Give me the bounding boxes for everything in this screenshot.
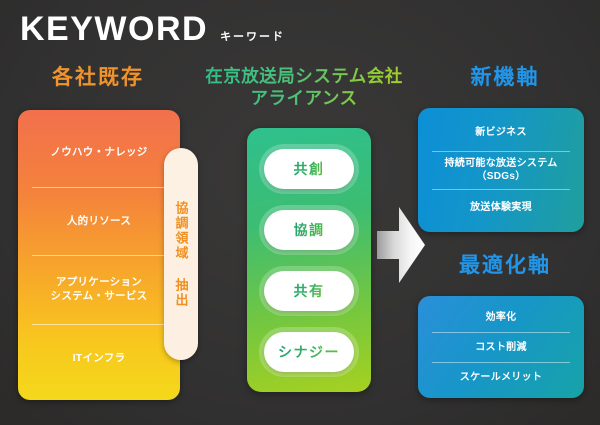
list-item: 協調 xyxy=(264,210,354,250)
existing-assets-column: ノウハウ・ナレッジ 人的リソース アプリケーションシステム・サービス ITインフ… xyxy=(18,110,180,400)
heading-new-axis: 新機軸 xyxy=(430,66,580,90)
list-item: 共創 xyxy=(264,149,354,189)
extraction-pill: 協調領域 抽出 xyxy=(164,148,198,360)
list-item: コスト削減 xyxy=(418,332,584,362)
alliance-value-label: 共創 xyxy=(294,159,325,179)
list-item: シナジー xyxy=(264,332,354,372)
alliance-value-label: 協調 xyxy=(294,220,325,240)
list-item: 新ビジネス xyxy=(418,114,584,151)
list-item: 効率化 xyxy=(418,302,584,332)
slide-canvas: KEYWORD キーワード 各社既存 在京放送局システム会社アライアンス 新機軸… xyxy=(0,0,600,425)
keyword-header: KEYWORD キーワード xyxy=(20,12,285,46)
alliance-value-label: 共有 xyxy=(294,281,325,301)
list-item: スケールメリット xyxy=(418,362,584,392)
list-item: 放送体験実現 xyxy=(418,189,584,226)
keyword-subtitle: キーワード xyxy=(220,32,285,43)
list-item: ノウハウ・ナレッジ xyxy=(18,118,180,187)
list-item: 共有 xyxy=(264,271,354,311)
list-item: アプリケーションシステム・サービス xyxy=(18,255,180,324)
list-item: 人的リソース xyxy=(18,187,180,256)
list-item: 持続可能な放送システム（SDGs） xyxy=(418,151,584,188)
alliance-column: 共創 協調 共有 シナジー xyxy=(247,128,371,392)
extraction-pill-label: 協調領域 抽出 xyxy=(175,201,188,308)
heading-existing-companies: 各社既存 xyxy=(18,66,178,90)
heading-alliance: 在京放送局システム会社アライアンス xyxy=(182,66,426,110)
heading-optimization-axis: 最適化軸 xyxy=(424,254,586,278)
new-axis-panel: 新ビジネス 持続可能な放送システム（SDGs） 放送体験実現 xyxy=(418,108,584,232)
keyword-title: KEYWORD xyxy=(20,12,208,46)
optimization-axis-panel: 効率化 コスト削減 スケールメリット xyxy=(418,296,584,398)
right-arrow-icon xyxy=(377,205,425,285)
alliance-value-label: シナジー xyxy=(278,342,340,362)
list-item: ITインフラ xyxy=(18,324,180,393)
